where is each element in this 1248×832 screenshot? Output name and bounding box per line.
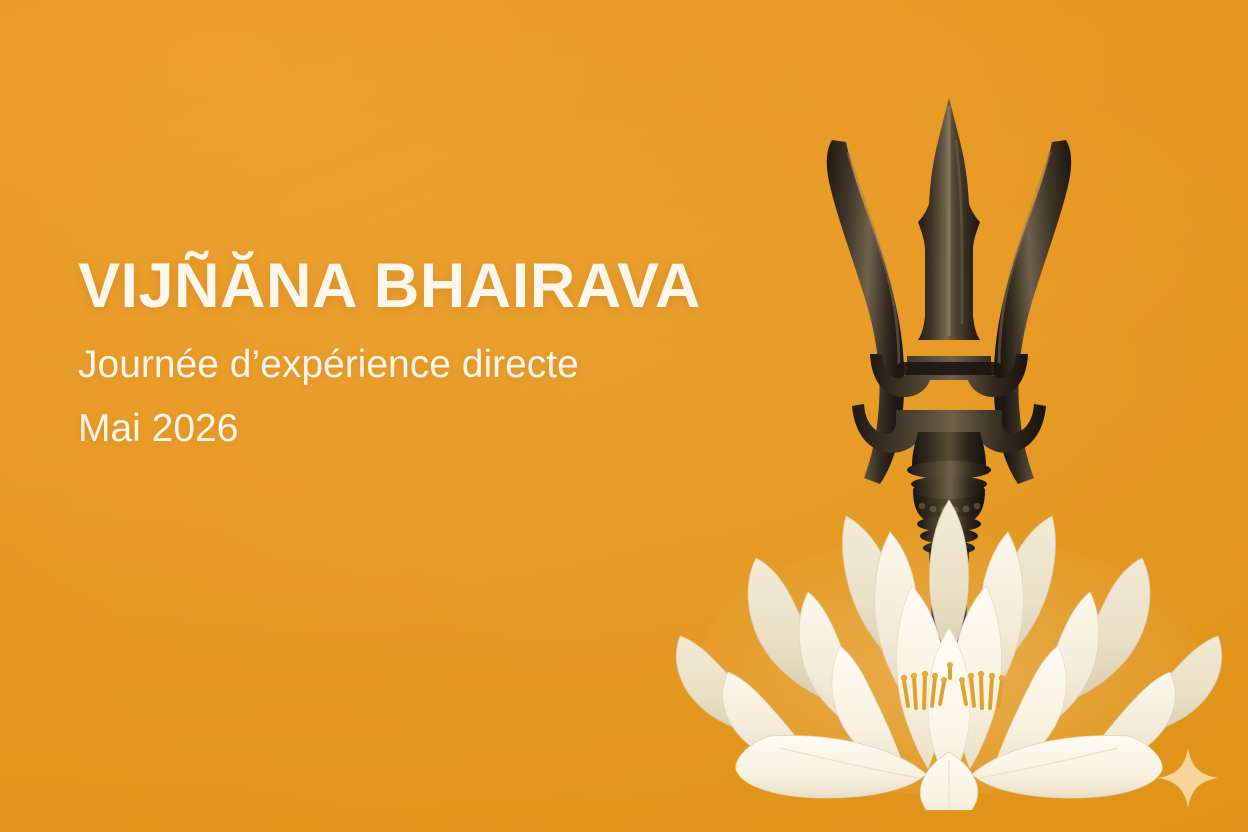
headline-block: VIJÑĂNA BHAIRAVA Journée d’expérience di… bbox=[78, 255, 778, 450]
lotus-flower bbox=[676, 500, 1221, 810]
sparkle-star-icon bbox=[1155, 745, 1221, 811]
page-date: Mai 2026 bbox=[78, 408, 778, 450]
page-title: VIJÑĂNA BHAIRAVA bbox=[78, 255, 778, 318]
trident-collar bbox=[912, 432, 986, 466]
poster-canvas: VIJÑĂNA BHAIRAVA Journée d’expérience di… bbox=[0, 0, 1248, 832]
page-subtitle: Journée d’expérience directe bbox=[78, 344, 778, 386]
